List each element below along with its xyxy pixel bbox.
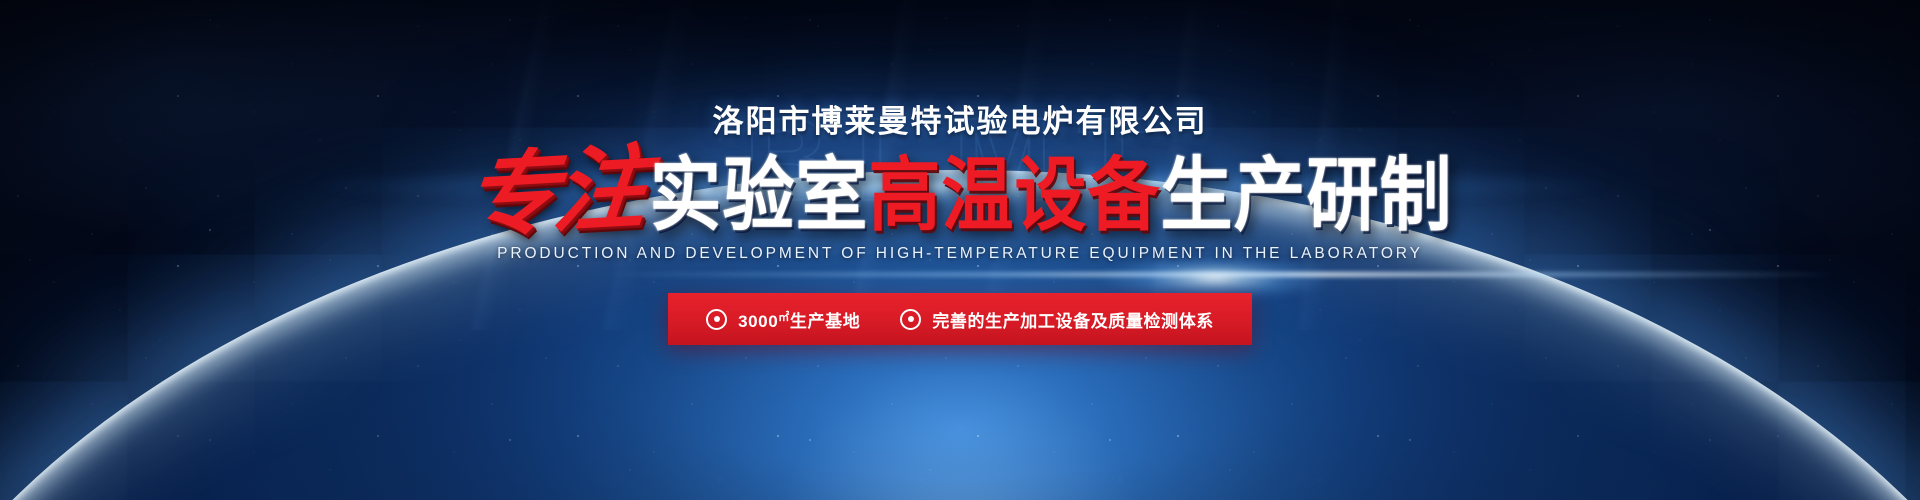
feature-area-unit: ㎡ — [778, 311, 790, 323]
feature-quality-label: 完善的生产加工设备及质量检测体系 — [932, 307, 1214, 332]
headline-red-part: 高温设备 — [869, 128, 1161, 246]
feature-item-area: 3000㎡生产基地 — [706, 307, 860, 332]
headline-white-part-2: 生产研制 — [1161, 128, 1453, 246]
banner-content: 洛阳市博莱曼特试验电炉有限公司 专注 实验室 高温设备 生产研制 PRODUCT… — [0, 0, 1920, 500]
feature-area-text: 生产基地 — [790, 312, 860, 331]
target-ring-icon — [900, 309, 921, 330]
hero-banner: BLMT 洛阳市博莱曼特试验电炉有限公司 专注 实验室 高温设备 生产研制 PR… — [0, 0, 1920, 500]
target-ring-icon — [706, 309, 727, 330]
headline-brush-text: 专注 — [460, 113, 651, 256]
headline: 专注 实验室 高温设备 生产研制 — [467, 147, 1452, 227]
english-subtitle: PRODUCTION AND DEVELOPMENT OF HIGH-TEMPE… — [497, 245, 1423, 263]
feature-item-quality: 完善的生产加工设备及质量检测体系 — [900, 307, 1214, 332]
feature-area-label: 3000㎡生产基地 — [738, 307, 860, 332]
feature-bar: 3000㎡生产基地 完善的生产加工设备及质量检测体系 — [668, 293, 1252, 345]
feature-area-value: 3000 — [738, 312, 778, 331]
headline-white-part-1: 实验室 — [649, 128, 868, 246]
